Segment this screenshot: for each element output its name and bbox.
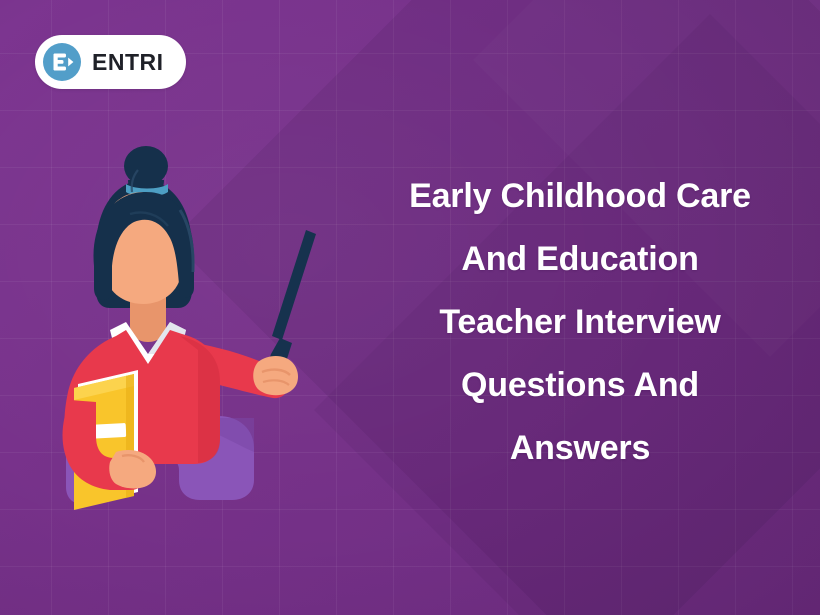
entri-wordmark: ENTRI — [92, 51, 164, 74]
page-title: Early Childhood Care And Education Teach… — [365, 165, 795, 479]
right-hand — [253, 356, 298, 395]
title-line-3: Teacher Interview — [365, 291, 795, 354]
entri-e-arrow-icon — [43, 43, 81, 81]
title-line-2: And Education — [365, 228, 795, 291]
entri-logo[interactable]: ENTRI — [35, 35, 186, 89]
banner-canvas: ENTRI — [0, 0, 820, 615]
teacher-illustration — [30, 140, 360, 520]
title-line-4: Questions And — [365, 354, 795, 417]
hair-bun — [124, 146, 168, 198]
pointer-stick — [270, 230, 316, 368]
title-line-5: Answers — [365, 417, 795, 480]
title-line-1: Early Childhood Care — [365, 165, 795, 228]
